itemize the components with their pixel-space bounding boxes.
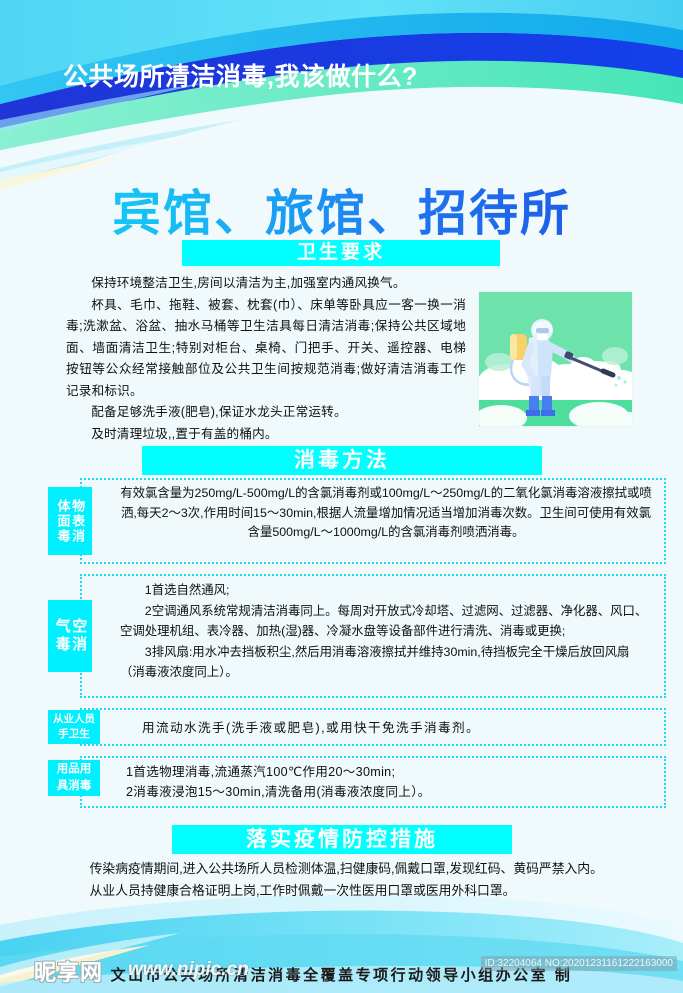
- disinfection-worker-illustration: [478, 291, 633, 427]
- hygiene-requirements-text: 保持环境整洁卫生,房间以清洁为主,加强室内通风换气。 杯具、毛巾、拖鞋、被套、枕…: [66, 273, 466, 445]
- method-text-air: 1首选自然通风; 2空调通风系统常规清洁消毒同上。每周对开放式冷却塔、过滤网、过…: [120, 580, 648, 683]
- method-goods-line-2: 2消毒液浸泡15～30min,清洗备用(消毒液浓度同上）。: [126, 782, 626, 802]
- method-air-line-3: 3排风扇:用水冲去挡板积尘,然后用消毒溶液擦拭并维持30min,待挡板完全干燥后…: [120, 642, 648, 683]
- method-label-surface-col1: 物表消: [71, 499, 85, 544]
- method-label-goods: 用品用 具消毒: [48, 760, 100, 796]
- page-title: 宾馆、旅馆、招待所: [0, 174, 683, 245]
- section-banner-epidemic: 落实疫情防控措施: [172, 825, 512, 854]
- method-label-surface-col2: 体面毒: [56, 499, 70, 544]
- method-label-goods-line1: 用品用: [57, 761, 92, 778]
- method-label-surface: 物表消 体面毒: [48, 487, 92, 555]
- method-text-hand-hygiene: 用流动水洗手(洗手液或肥皂),或用快干免洗手消毒剂。: [142, 718, 642, 738]
- header-wave-banner: 公共场所清洁消毒,我该做什么?: [0, 0, 683, 190]
- section-banner-hygiene: 卫生要求: [182, 240, 500, 266]
- watermark-logo: 昵享网: [34, 955, 103, 987]
- watermark-id: ID:32204064 NO:20201231161222163000: [481, 956, 677, 971]
- hygiene-paragraph-4: 及时清理垃圾,,置于有盖的桶内。: [66, 424, 466, 446]
- method-label-goods-line2: 具消毒: [57, 778, 92, 795]
- hygiene-paragraph-2: 杯具、毛巾、拖鞋、被套、枕套(巾）、床单等卧具应一客一换一消毒;洗漱盆、浴盆、抽…: [66, 295, 466, 403]
- epidemic-paragraph-2: 从业人员持健康合格证明上岗,工作时佩戴一次性医用口罩或医用外科口罩。: [64, 880, 624, 902]
- method-label-hand-hygiene: 从业人员 手卫生: [48, 710, 100, 744]
- method-label-air-col1: 空消: [71, 618, 87, 654]
- section-banner-method: 消毒方法: [142, 446, 542, 475]
- header-wave-graphic: [0, 0, 683, 190]
- header-title: 公共场所清洁消毒,我该做什么?: [63, 57, 418, 93]
- method-label-air-col2: 气毒: [54, 618, 70, 654]
- hygiene-paragraph-3: 配备足够洗手液(肥皂),保证水龙头正常运转。: [66, 402, 466, 424]
- method-label-air: 空消 气毒: [48, 600, 92, 672]
- method-text-surface: 有效氯含量为250mg/L-500mg/L的含氯消毒剂或100mg/L～250m…: [118, 484, 654, 543]
- method-air-line-2: 2空调通风系统常规清洁消毒同上。每周对开放式冷却塔、过滤网、过滤器、净化器、风口…: [120, 601, 648, 642]
- epidemic-paragraph-1: 传染病疫情期间,进入公共场所人员检测体温,扫健康码,佩戴口罩,发现红码、黄码严禁…: [64, 858, 624, 880]
- worker-spraying-icon: [479, 292, 633, 427]
- method-label-hand-line2: 手卫生: [53, 727, 95, 742]
- method-text-goods: 1首选物理消毒,流通蒸汽100℃作用20～30min; 2消毒液浸泡15～30m…: [126, 762, 626, 802]
- poster-root: 公共场所清洁消毒,我该做什么? 宾馆、旅馆、招待所 卫生要求 保持环境整洁卫生,…: [0, 0, 683, 993]
- method-label-hand-line1: 从业人员: [53, 712, 95, 727]
- method-air-line-1: 1首选自然通风;: [120, 580, 648, 601]
- hygiene-paragraph-1: 保持环境整洁卫生,房间以清洁为主,加强室内通风换气。: [66, 273, 466, 295]
- method-goods-line-1: 1首选物理消毒,流通蒸汽100℃作用20～30min;: [126, 762, 626, 782]
- watermark-url: www.nipic.cn: [128, 959, 249, 981]
- epidemic-measures-text: 传染病疫情期间,进入公共场所人员检测体温,扫健康码,佩戴口罩,发现红码、黄码严禁…: [64, 858, 624, 902]
